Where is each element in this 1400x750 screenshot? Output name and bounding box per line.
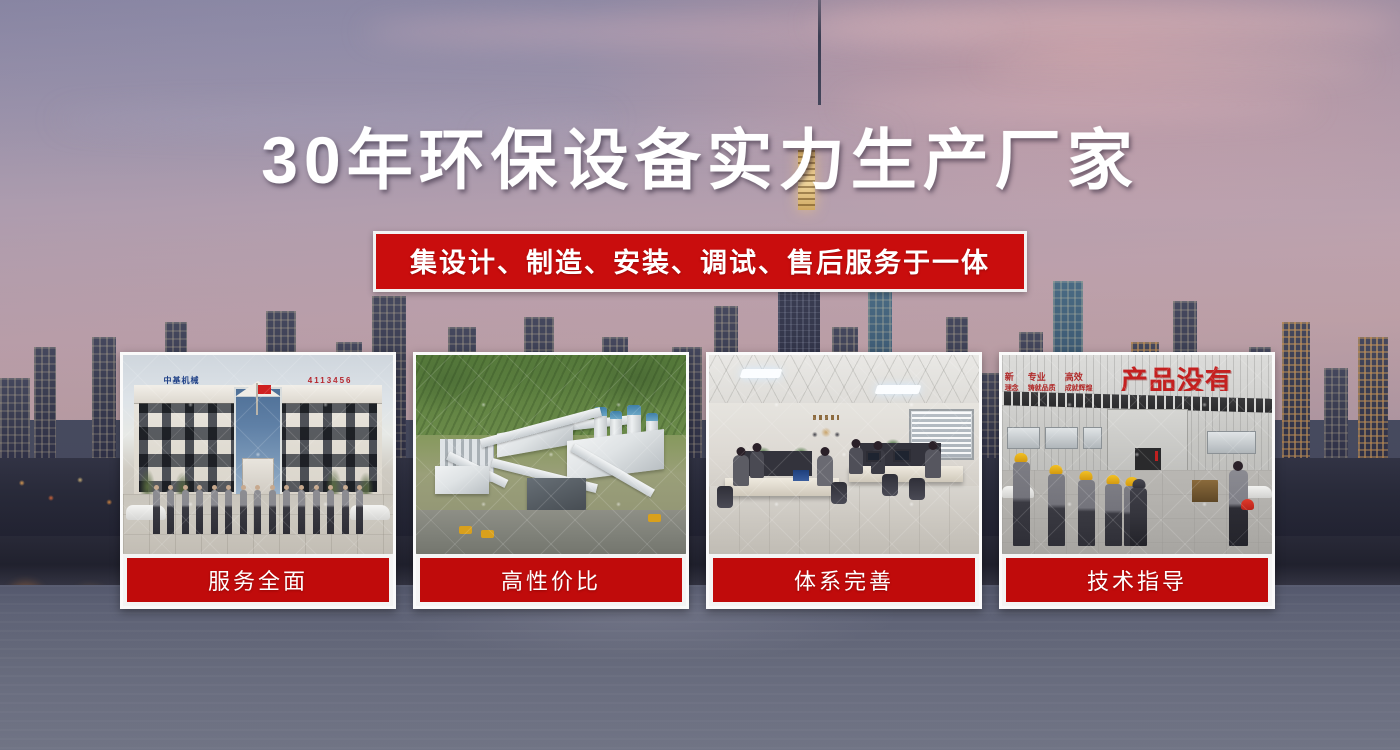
office-interior-photo — [709, 355, 979, 554]
staff-member — [283, 490, 290, 534]
office-chair — [882, 474, 898, 496]
worker-with-hardhat — [1013, 462, 1030, 546]
worker-with-hardhat — [1048, 474, 1065, 546]
staff-member — [313, 490, 320, 534]
computer-monitor — [866, 451, 881, 462]
staff-member — [153, 490, 160, 534]
ceiling-light — [875, 385, 922, 394]
card-caption: 体系完善 — [713, 558, 975, 602]
company-name-sign: 中基机械 — [164, 375, 200, 386]
flag-pole — [256, 383, 258, 415]
card-caption: 服务全面 — [127, 558, 389, 602]
wall-slogan-big: 专业 — [1028, 371, 1056, 385]
staff-member — [269, 490, 276, 534]
company-headquarters-photo: 中基机械 4113456 — [123, 355, 393, 554]
factory-window — [1007, 427, 1039, 449]
factory-window — [1207, 431, 1256, 455]
red-hardhat — [1241, 499, 1254, 510]
feature-card[interactable]: 高性价比 — [413, 352, 689, 609]
factory-gate — [1107, 409, 1188, 475]
office-chair — [717, 486, 733, 508]
subtitle-ribbon: 集设计、制造、安装、调试、售后服务于一体 — [373, 231, 1027, 292]
office-worker — [750, 451, 764, 479]
feature-card[interactable]: 产品没有 新 理念 专业 铸就品质 高效 成就辉煌 — [999, 352, 1275, 609]
plant-yard — [416, 510, 686, 554]
excavator — [648, 514, 661, 522]
wall-slogan-small: 成就辉煌 — [1065, 385, 1093, 392]
ceiling-light — [740, 369, 783, 378]
staff-member — [356, 490, 363, 534]
feature-card[interactable]: 体系完善 — [706, 352, 982, 609]
workers-training-photo: 产品没有 新 理念 专业 铸就品质 高效 成就辉煌 — [1002, 355, 1272, 554]
card-caption: 高性价比 — [420, 558, 682, 602]
plant-building — [527, 478, 586, 510]
worker — [1130, 488, 1147, 546]
card-caption-label: 体系完善 — [794, 564, 894, 596]
worker-with-hardhat — [1078, 480, 1095, 546]
excavator — [481, 530, 494, 538]
production-plant-aerial-photo — [416, 355, 686, 554]
staff-member — [327, 490, 334, 534]
wall-slogan-big: 新 — [1005, 371, 1019, 385]
wall-slogan-item: 高效 成就辉煌 — [1065, 371, 1093, 395]
office-chair — [909, 478, 925, 500]
staff-member — [167, 490, 174, 534]
computer-monitor — [893, 449, 911, 462]
staff-member — [240, 490, 247, 534]
card-caption-label: 技术指导 — [1087, 564, 1187, 596]
subtitle-text: 集设计、制造、安装、调试、售后服务于一体 — [410, 241, 990, 280]
excavator — [459, 526, 472, 534]
feature-card[interactable]: 中基机械 4113456 — [120, 352, 396, 609]
page-title: 30年环保设备实力生产厂家 — [0, 126, 1400, 195]
office-worker — [849, 447, 863, 475]
worker-with-hardhat — [1105, 484, 1122, 546]
office-worker — [817, 455, 833, 487]
card-caption: 技术指导 — [1006, 558, 1268, 602]
staff-member — [342, 490, 349, 534]
card-caption-label: 服务全面 — [208, 564, 308, 596]
wall-slogan-big: 高效 — [1065, 371, 1093, 385]
staff-group — [153, 490, 364, 534]
factory-window — [1045, 427, 1077, 449]
office-chair — [831, 482, 847, 504]
factory-window — [1083, 427, 1102, 449]
promo-banner: 30年环保设备实力生产厂家 集设计、制造、安装、调试、售后服务于一体 中基机械 … — [0, 0, 1400, 750]
office-worker — [925, 449, 941, 479]
office-worker — [733, 455, 749, 487]
machinery — [1192, 480, 1218, 502]
staff-member — [298, 490, 305, 534]
staff-member — [211, 490, 218, 534]
plant-building — [435, 466, 489, 494]
staff-member — [254, 490, 261, 534]
feature-card-row: 中基机械 4113456 — [120, 352, 1280, 609]
staff-member — [225, 490, 232, 534]
staff-member — [182, 490, 189, 534]
wall-decal — [806, 415, 846, 443]
office-desk — [849, 466, 962, 482]
card-caption-label: 高性价比 — [501, 564, 601, 596]
ceiling-grid — [709, 355, 979, 407]
staff-member — [196, 490, 203, 534]
phone-number-sign: 4113456 — [308, 376, 353, 385]
laptop — [793, 470, 809, 481]
factory-wall-slogan: 产品没有 — [1121, 359, 1272, 391]
